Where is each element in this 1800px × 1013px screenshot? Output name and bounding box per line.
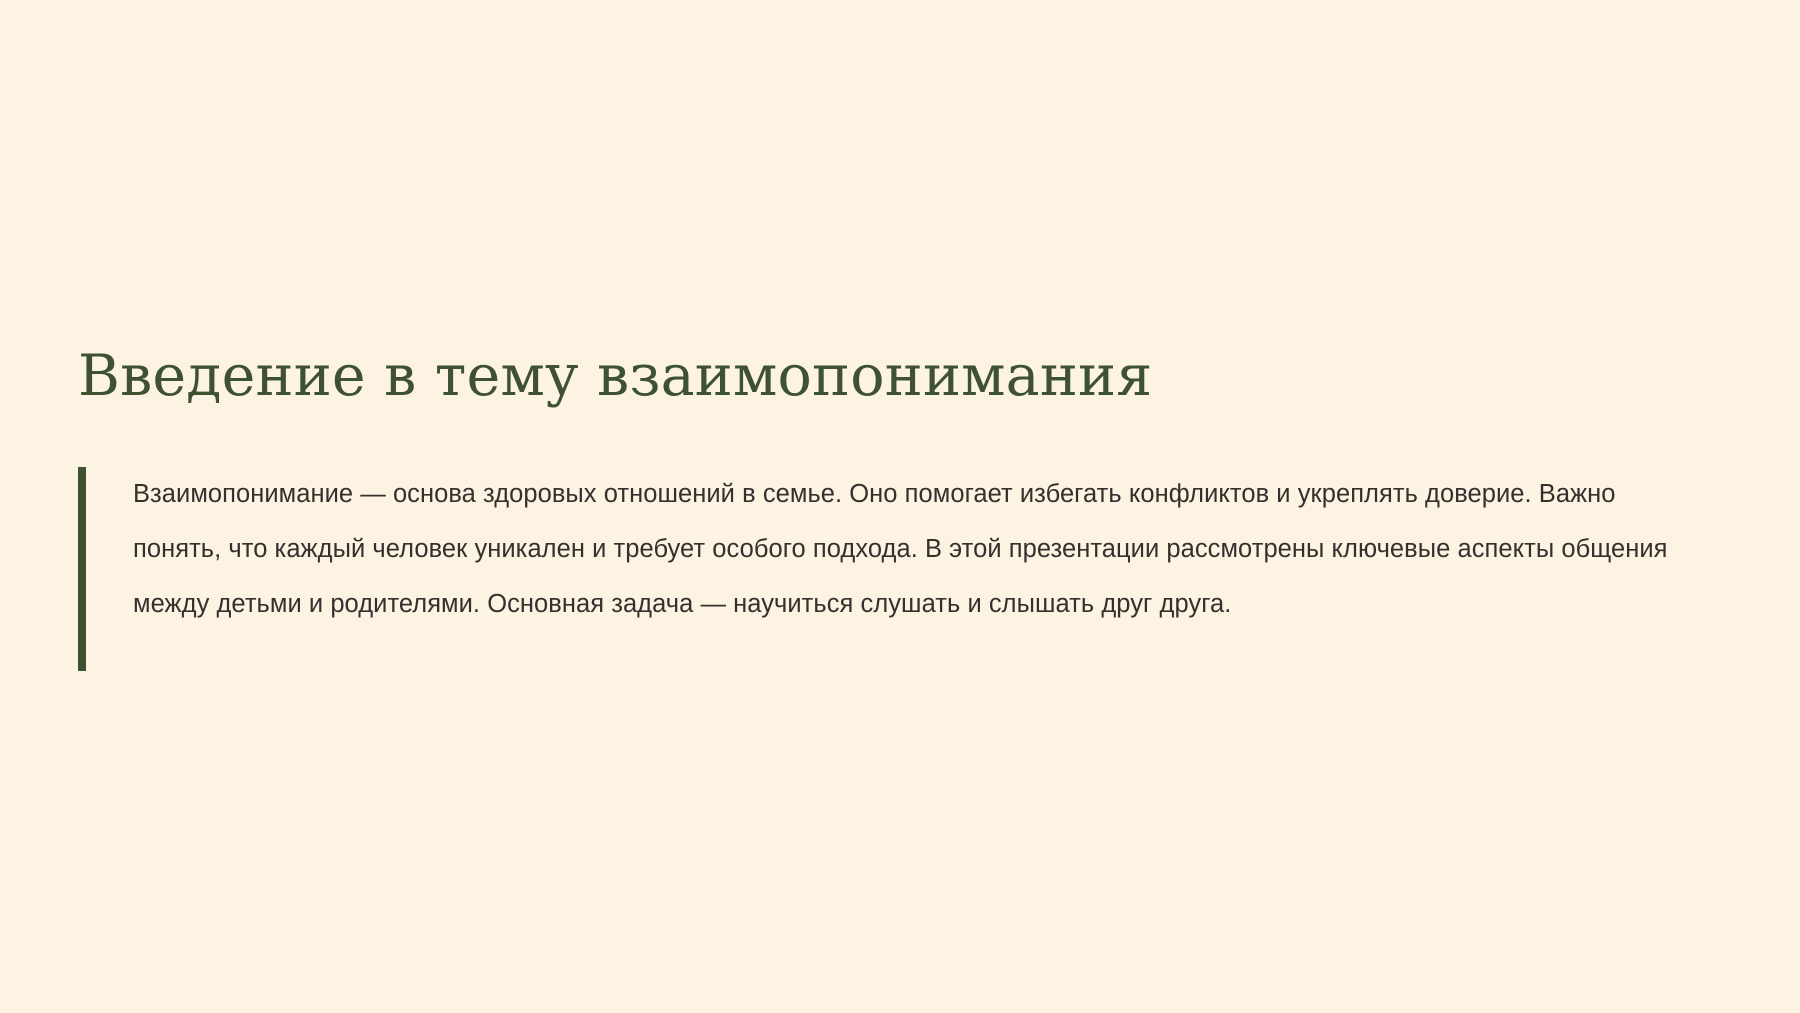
slide-title: Введение в тему взаимопонимания [78,345,1678,409]
body-block: Взаимопонимание — основа здоровых отноше… [78,467,1678,671]
presentation-slide: Введение в тему взаимопонимания Взаимопо… [0,0,1800,1013]
slide-body-text: Взаимопонимание — основа здоровых отноше… [133,467,1678,632]
accent-bar [78,467,86,671]
slide-content: Введение в тему взаимопонимания Взаимопо… [78,345,1678,671]
